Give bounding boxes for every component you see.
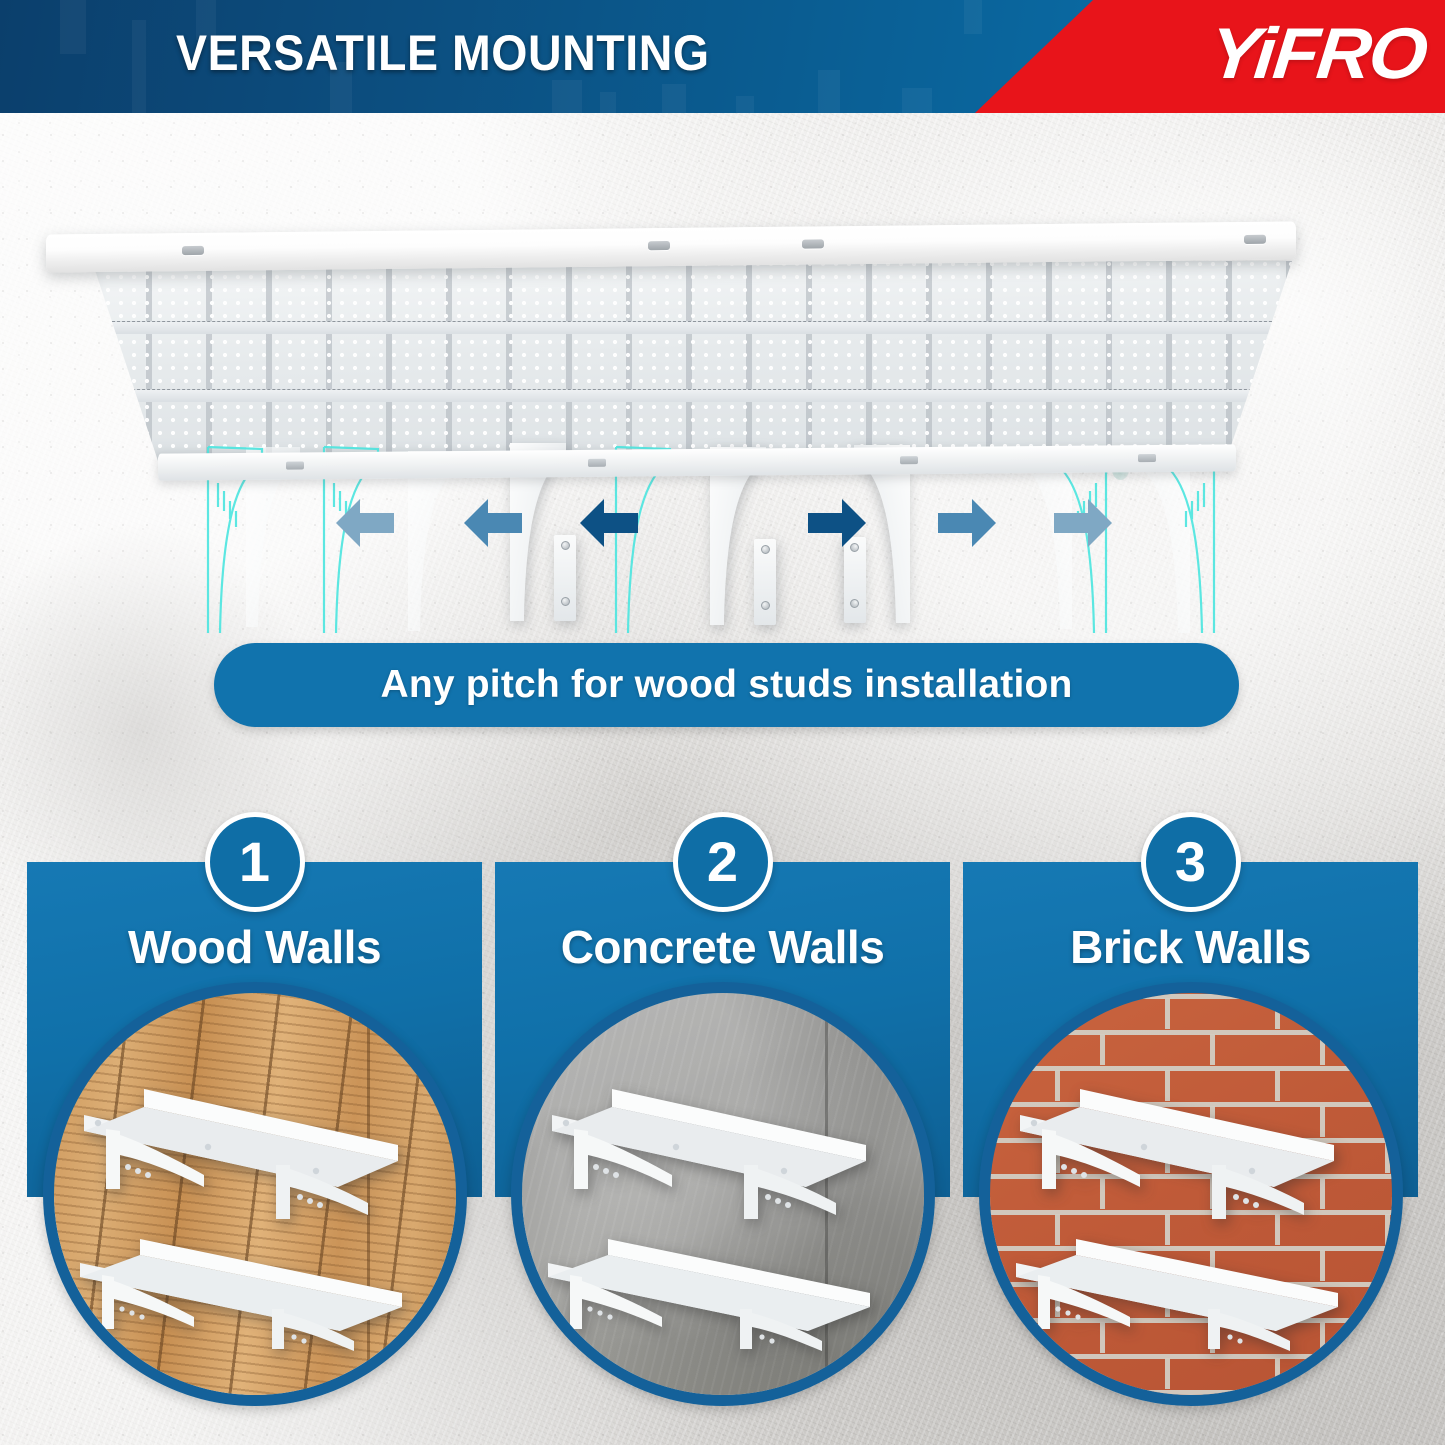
card-photo-concrete xyxy=(511,982,935,1406)
card-title: Brick Walls xyxy=(963,920,1418,974)
mini-shelf-lower xyxy=(540,1233,880,1349)
page-title: VERSATILE MOUNTING xyxy=(176,24,710,82)
card-title: Concrete Walls xyxy=(495,920,950,974)
mini-shelf-lower xyxy=(72,1233,412,1349)
mini-shelf-upper xyxy=(544,1079,874,1219)
concrete-wall-texture xyxy=(522,993,924,1395)
brand-logo: YiFRO xyxy=(1205,14,1429,94)
mini-shelf-upper xyxy=(76,1079,406,1219)
card-photo-wood xyxy=(43,982,467,1406)
card-number-badge: 2 xyxy=(673,812,773,912)
card-number-badge: 3 xyxy=(1141,812,1241,912)
card-photo-brick xyxy=(979,982,1403,1406)
mini-shelf-lower xyxy=(1008,1233,1348,1349)
wood-wall-texture xyxy=(54,993,456,1395)
pitch-banner: Any pitch for wood studs installation xyxy=(214,643,1239,727)
product-infographic: VERSATILE MOUNTING YiFRO xyxy=(0,0,1445,1445)
mini-shelf-upper xyxy=(1012,1079,1342,1219)
card-number-badge: 1 xyxy=(205,812,305,912)
pitch-banner-text: Any pitch for wood studs installation xyxy=(380,663,1072,707)
card-title: Wood Walls xyxy=(27,920,482,974)
brick-wall-texture xyxy=(990,993,1392,1395)
header-banner: VERSATILE MOUNTING YiFRO xyxy=(0,0,1445,113)
